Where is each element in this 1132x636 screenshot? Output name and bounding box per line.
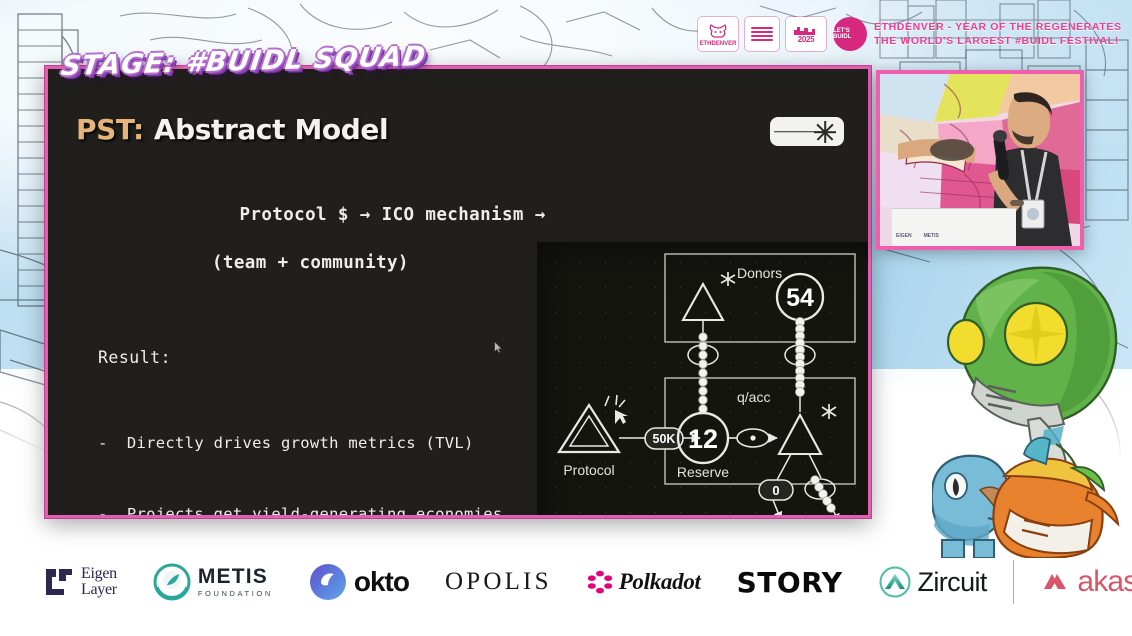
donors-count-node: 54 (777, 274, 823, 320)
banner-headline: ETHDENVER - YEAR OF THE REGENERATES THE … (874, 20, 1122, 48)
presentation-slide[interactable]: PST: Abstract Model Protocol $ → ICO mec… (45, 66, 871, 518)
stage-podium (892, 208, 1016, 246)
sponsor-zircuit: Zircuit (879, 566, 987, 598)
sponsor-okto: okto (309, 563, 409, 601)
reserve-to-qacc-edge (728, 429, 777, 447)
ethdenver-logo-badge: ETHDENVER (698, 17, 738, 51)
list-item: - Directly drives growth metrics (TVL) (98, 432, 556, 456)
podium-logo-eigenlayer: EIGEN (896, 233, 912, 239)
reserve-node-label: Reserve (677, 464, 729, 480)
lets-buidl-badge: LET'S BUIDL (833, 17, 867, 51)
eigenlayer-label-top: Eigen (81, 566, 117, 582)
result-bullet-list: - Directly drives growth metrics (TVL) -… (56, 385, 556, 518)
metis-wordmark: METIS FOUNDATION (198, 566, 273, 598)
sponsor-eigenlayer: Eigen Layer (44, 566, 117, 599)
protocol-flow-text: Protocol $ → ICO mechanism → (team + com… (56, 179, 556, 324)
podium-sponsor-logos: EIGEN METIS (896, 233, 939, 239)
sponsor-akash: akash (1040, 565, 1132, 599)
sponsor-metis: METIS FOUNDATION (153, 563, 273, 601)
ethdenver-mascot-artwork (932, 258, 1132, 558)
sponsor-logo-bar: Eigen Layer METIS FOUNDATION okt (0, 528, 1132, 636)
year-badge: 2025 (786, 17, 826, 51)
speaker-camera-feed[interactable]: EIGEN METIS (876, 70, 1084, 250)
ethdenver-top-banner: ETHDENVER 2025 LET'S BUIDL ETHDENVER - Y… (690, 6, 1132, 62)
polkadot-wordmark: Polkadot (619, 569, 701, 595)
qacc-to-tokens-value: 0 (772, 483, 779, 498)
year-badge-label: 2025 (798, 36, 815, 44)
polkadot-icon (588, 570, 612, 594)
abstract-model-diagram: Donors q/acc 54 (537, 242, 871, 518)
okto-wordmark: okto (354, 566, 409, 598)
skyline-icon (793, 25, 819, 36)
podium-logo-metis: METIS (924, 233, 939, 239)
reserve-node: 12 Reserve (677, 413, 729, 480)
protocol-node-label: Protocol (563, 462, 614, 478)
donor-source-node (683, 272, 735, 320)
eigenlayer-wordmark: Eigen Layer (81, 566, 117, 599)
protocol-flow-line-1: Protocol $ → ICO mechanism → (240, 205, 546, 225)
metis-label-top: METIS (198, 566, 273, 587)
result-label: Result: (56, 348, 556, 367)
sponsor-opolis: OPOLIS (445, 568, 552, 596)
protocol-to-reserve-value: 50K (653, 432, 676, 446)
protocol-sparkle-icon (605, 395, 628, 424)
asterisk-logo-icon (770, 117, 844, 146)
bufficorn-icon (707, 22, 729, 40)
donors-count-value: 54 (786, 284, 814, 312)
sponsor-story: STORY (737, 566, 843, 599)
banner-line-1: ETHDENVER - YEAR OF THE REGENERATES (874, 20, 1122, 34)
reserve-node-value: 12 (688, 424, 718, 454)
qacc-to-revenue-edge (805, 454, 839, 518)
metis-label-bottom: FOUNDATION (198, 590, 273, 598)
donors-to-qacc-flow (785, 317, 815, 412)
mouse-cursor-icon (494, 341, 503, 354)
qacc-to-tokens-edge: 0 (759, 454, 793, 518)
donors-group-label: Donors (737, 265, 782, 281)
protocol-node: Protocol (559, 395, 628, 478)
opolis-wordmark: OPOLIS (445, 568, 552, 596)
metis-icon (153, 563, 191, 601)
akash-wordmark: akash (1077, 565, 1132, 599)
slide-title: Abstract Model (154, 113, 388, 146)
sponsor-polkadot: Polkadot (588, 569, 701, 595)
donor-to-reserve-flow (688, 320, 718, 413)
okto-icon (309, 563, 347, 601)
story-wordmark: STORY (737, 566, 843, 599)
lets-buidl-label: LET'S BUIDL (833, 28, 867, 40)
sponsor-divider (1013, 560, 1015, 604)
qacc-triangle-node (779, 404, 836, 454)
protocol-flow-line-2: (team + community) (152, 251, 556, 275)
banner-line-2: THE WORLD'S LARGEST #BUIDL FESTIVAL! (874, 34, 1122, 48)
slide-text-body: Protocol $ → ICO mechanism → (team + com… (56, 179, 556, 518)
asterisk-glyph (814, 121, 836, 143)
akash-icon (1040, 567, 1070, 597)
eigenlayer-label-bottom: Layer (81, 582, 117, 598)
zircuit-icon (879, 566, 911, 598)
reserve-to-qacc-value (750, 435, 755, 440)
ethdenver-badge-label: ETHDENVER (699, 41, 736, 47)
diagram-graphics: Donors q/acc 54 (537, 242, 871, 518)
qacc-group-label: q/acc (737, 389, 770, 405)
slide-canvas: PST: Abstract Model Protocol $ → ICO mec… (48, 69, 868, 515)
schedule-badge (745, 17, 779, 51)
eigenlayer-icon (44, 567, 74, 597)
zircuit-wordmark: Zircuit (918, 567, 987, 598)
list-item: - Projects get yield-generating economie… (98, 503, 556, 518)
slide-title-row: PST: Abstract Model (76, 113, 388, 146)
slide-title-prefix: PST: (76, 113, 144, 146)
